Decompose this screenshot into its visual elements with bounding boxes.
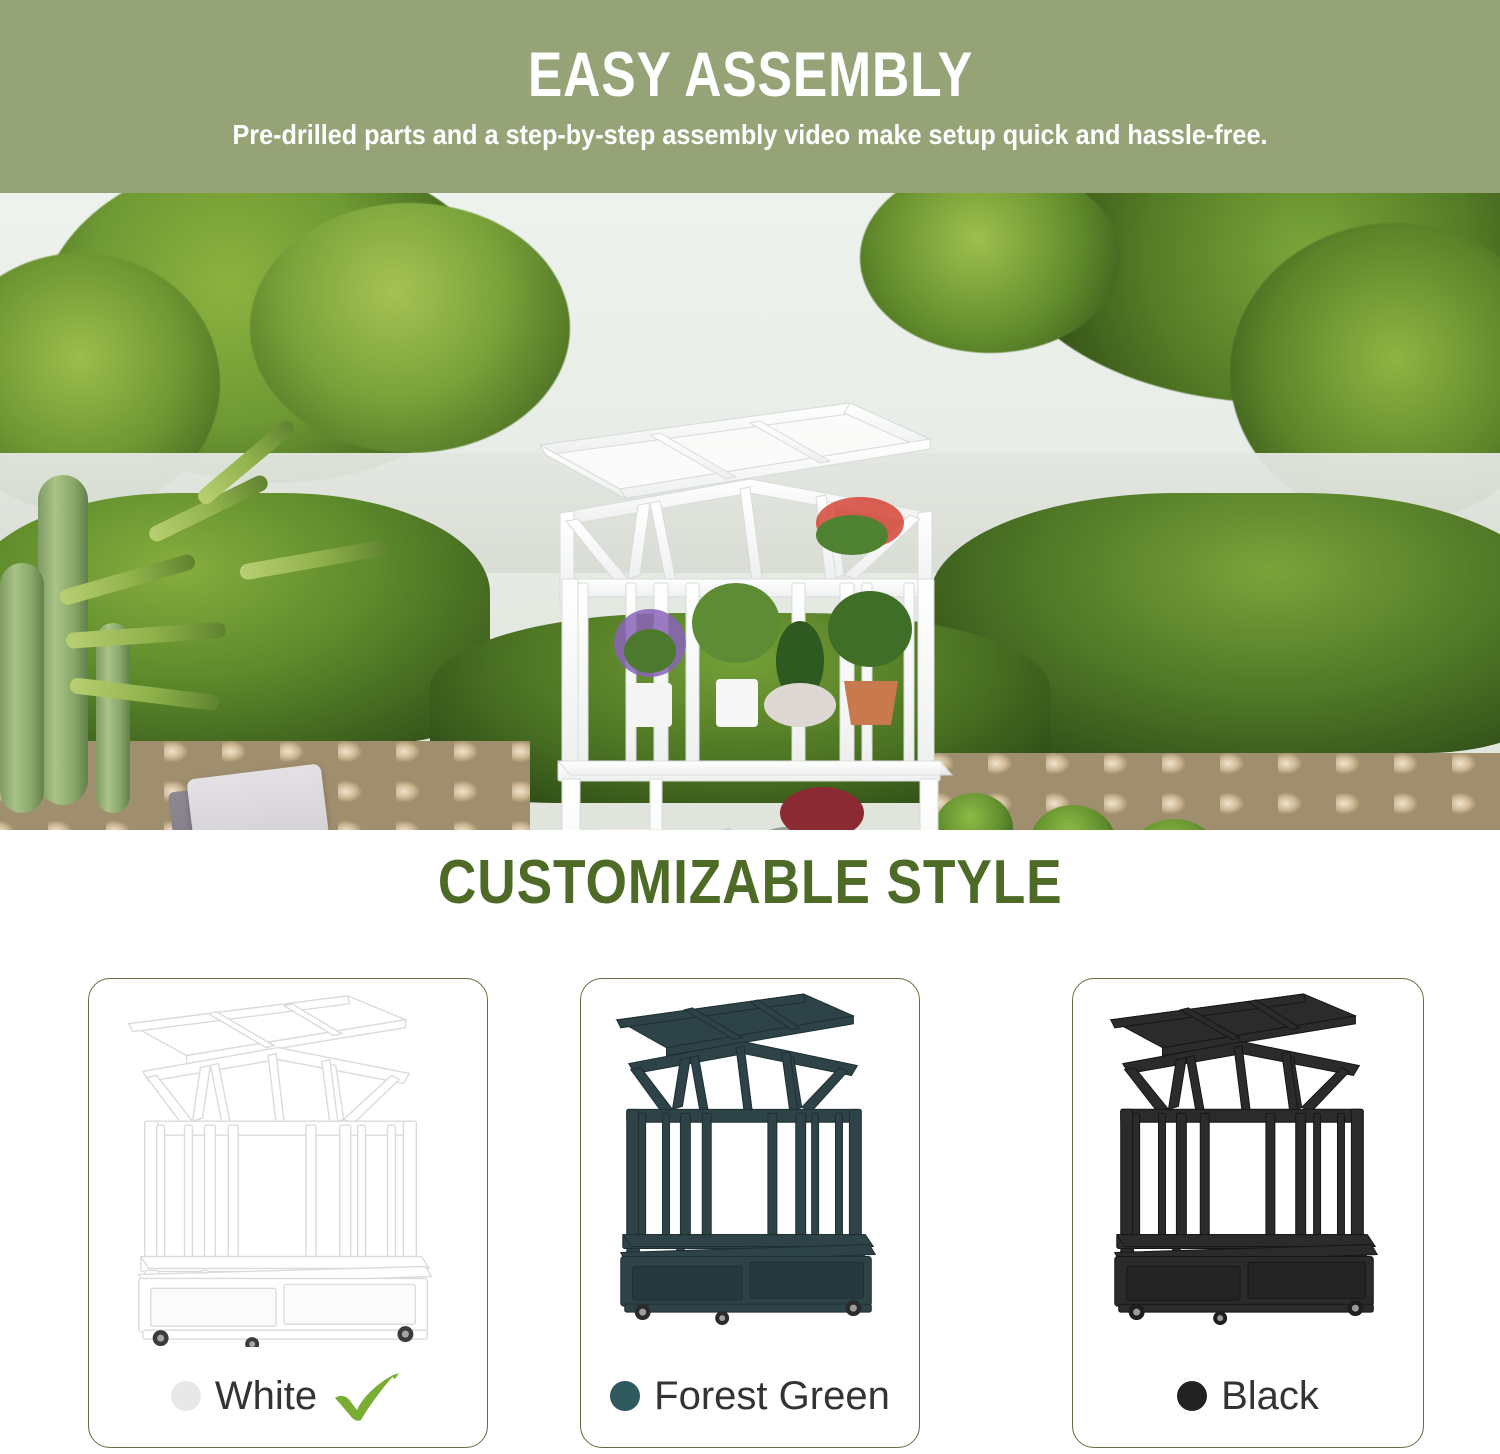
color-name-forest-green: Forest Green — [654, 1376, 890, 1416]
color-swatch-forest-green-icon — [610, 1381, 640, 1411]
planter-items — [594, 787, 890, 830]
hero-lifestyle-photo — [0, 193, 1500, 830]
product-image-forest-green — [581, 979, 919, 1347]
cactus-icon — [0, 563, 44, 813]
banner-subtitle: Pre-drilled parts and a step-by-step ass… — [233, 121, 1268, 149]
stone-gabion-wall — [930, 753, 1500, 830]
color-card-black[interactable]: Black — [1072, 978, 1424, 1448]
customizable-style-section: CUSTOMIZABLE STYLE — [0, 830, 1500, 1454]
color-name-white: White — [215, 1376, 317, 1416]
product-image-black — [1073, 979, 1423, 1347]
card-label-forest-green: Forest Green — [581, 1345, 919, 1447]
color-swatch-black-icon — [1177, 1381, 1207, 1411]
card-label-black: Black — [1073, 1345, 1423, 1447]
section-title-text: CUSTOMIZABLE STYLE — [438, 852, 1063, 914]
color-card-forest-green[interactable]: Forest Green — [580, 978, 920, 1448]
section-title: CUSTOMIZABLE STYLE — [0, 852, 1500, 914]
color-option-cards: White — [0, 978, 1500, 1448]
color-name-black: Black — [1221, 1376, 1319, 1416]
product-image-white — [89, 979, 487, 1347]
cactus-icon — [96, 623, 130, 813]
banner-title: EASY ASSEMBLY — [527, 44, 972, 107]
color-card-white[interactable]: White — [88, 978, 488, 1448]
selected-check-icon — [331, 1370, 405, 1422]
header-banner: EASY ASSEMBLY Pre-drilled parts and a st… — [0, 0, 1500, 193]
card-label-white: White — [89, 1345, 487, 1447]
greenhouse-cart-hero — [500, 393, 980, 830]
color-swatch-white-icon — [171, 1381, 201, 1411]
